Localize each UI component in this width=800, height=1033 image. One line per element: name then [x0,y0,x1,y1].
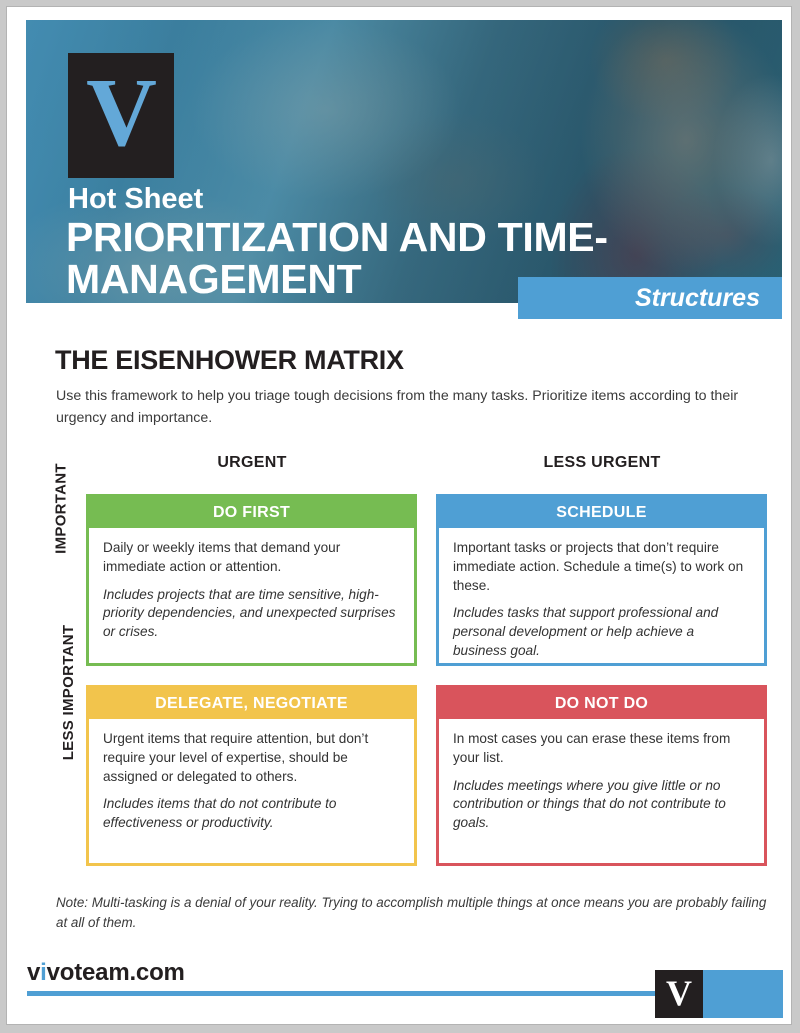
column-header-urgent: URGENT [87,454,417,472]
quadrant-body: Urgent items that require attention, but… [89,719,414,843]
category-tag-label: Structures [635,284,760,313]
intro-paragraph: Use this framework to help you triage to… [56,386,766,429]
quadrant-heading: DELEGATE, NEGOTIATE [89,688,414,719]
quadrant-body-italic: Includes projects that are time sensitiv… [103,586,400,642]
quadrant-body: In most cases you can erase these items … [439,719,764,843]
footer-logo: V [655,970,783,1018]
section-title: THE EISENHOWER MATRIX [55,345,404,376]
quadrant-body-text: In most cases you can erase these items … [453,730,750,768]
quadrant-heading: DO NOT DO [439,688,764,719]
quadrant-body-italic: Includes items that do not contribute to… [103,795,400,833]
category-tag: Structures [518,277,782,319]
quadrant-body-text: Daily or weekly items that demand your i… [103,539,400,577]
quadrant-body-italic: Includes meetings where you give little … [453,777,750,833]
row-header-important: IMPORTANT [53,419,70,599]
row-header-less-important: LESS IMPORTANT [60,595,77,790]
footer-logo-letter: V [666,975,692,1011]
quadrant-body-text: Urgent items that require attention, but… [103,730,400,786]
brand-logo: V [68,53,174,178]
footer-url-suffix: voteam.com [47,959,185,986]
hot-sheet-page: V Hot Sheet PRIORITIZATION AND TIME-MANA… [6,6,792,1025]
quadrant-delegate-negotiate: DELEGATE, NEGOTIATE Urgent items that re… [86,685,417,866]
footer-website-url[interactable]: vivoteam.com [27,959,185,987]
quadrant-heading: DO FIRST [89,497,414,528]
quadrant-schedule: SCHEDULE Important tasks or projects tha… [436,494,767,666]
column-header-less-urgent: LESS URGENT [437,454,767,472]
footnote: Note: Multi-tasking is a denial of your … [56,893,768,933]
quadrant-body: Daily or weekly items that demand your i… [89,528,414,652]
quadrant-heading: SCHEDULE [439,497,764,528]
footer-logo-mark: V [655,970,703,1018]
quadrant-body: Important tasks or projects that don’t r… [439,528,764,671]
brand-logo-letter: V [86,64,156,162]
footer-logo-accent-block [703,970,783,1018]
quadrant-body-text: Important tasks or projects that don’t r… [453,539,750,595]
header-kicker: Hot Sheet [68,183,203,216]
header-banner: V Hot Sheet PRIORITIZATION AND TIME-MANA… [26,20,782,303]
quadrant-body-italic: Includes tasks that support professional… [453,604,750,660]
quadrant-do-not-do: DO NOT DO In most cases you can erase th… [436,685,767,866]
quadrant-do-first: DO FIRST Daily or weekly items that dema… [86,494,417,666]
footer-url-prefix: v [27,959,40,986]
